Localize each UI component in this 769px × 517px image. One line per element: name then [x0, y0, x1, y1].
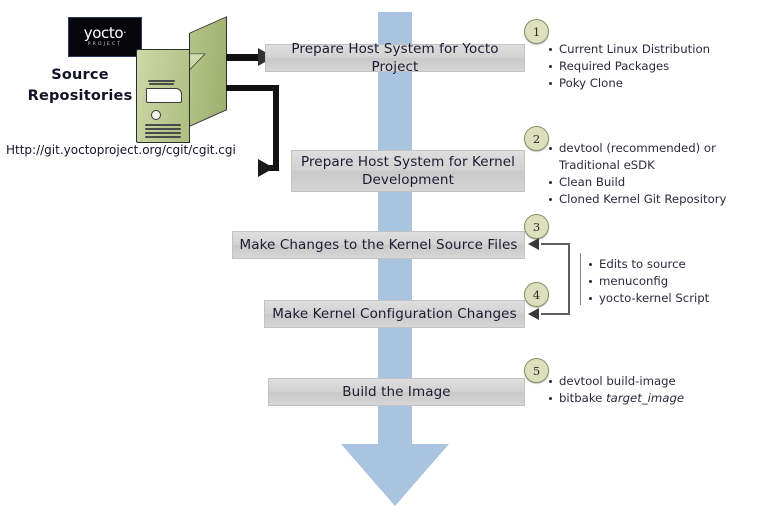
list-item: menuconfig	[588, 273, 709, 290]
step-5-badge: 5	[524, 358, 549, 383]
step-2-box[interactable]: Prepare Host System for Kernel Developme…	[291, 150, 525, 192]
list-item-emphasis: target_image	[606, 391, 684, 405]
feedback-bracket-bottom	[541, 313, 570, 315]
yocto-project-logo: yocto· PROJECT	[68, 17, 142, 57]
list-item: Edits to source	[588, 256, 709, 273]
source-repositories-label: Source Repositories	[22, 65, 138, 107]
list-item: Clean Build	[548, 174, 726, 191]
server-side-panel	[189, 16, 227, 127]
list-item: yocto-kernel Script	[588, 290, 709, 307]
server-vent-line	[145, 124, 181, 126]
step-2-notes: devtool (recommended) or Traditional eSD…	[548, 140, 726, 208]
feedback-arrow-to-step4	[528, 308, 539, 320]
server-vent-line	[145, 136, 181, 138]
step-4-badge: 4	[524, 282, 549, 307]
step-1-box[interactable]: Prepare Host System for Yocto Project	[265, 44, 525, 72]
server-power-button	[151, 110, 161, 120]
feedback-bracket-top	[541, 243, 570, 245]
server-vent-line	[148, 80, 175, 82]
list-item: Poky Clone	[548, 75, 710, 92]
diagram-canvas: yocto· PROJECT Source Repositories Http:…	[0, 0, 769, 517]
source-label-line2: Repositories	[22, 86, 138, 107]
list-item: Required Packages	[548, 58, 710, 75]
list-item: bitbake target_image	[548, 390, 684, 407]
logo-word-yocto: yocto	[84, 24, 123, 42]
list-item: Current Linux Distribution	[548, 41, 710, 58]
logo-dot: ·	[123, 26, 126, 39]
source-repository-url: Http://git.yoctoproject.org/cgit/cgit.cg…	[6, 143, 236, 157]
server-vent-line	[149, 83, 174, 85]
step-1-badge: 1	[524, 19, 549, 44]
feedback-bracket-vertical	[568, 243, 570, 314]
step-1-notes: Current Linux Distribution Required Pack…	[548, 41, 710, 92]
logo-word-project: PROJECT	[88, 43, 123, 48]
step-2-box-line2: Development	[362, 171, 454, 189]
server-vent-line	[145, 128, 181, 130]
list-item: Cloned Kernel Git Repository	[548, 191, 726, 208]
step-3-box[interactable]: Make Changes to the Kernel Source Files	[232, 231, 525, 259]
notes-divider	[580, 253, 581, 305]
feedback-arrow-to-step3	[528, 238, 539, 250]
server-icon	[136, 33, 228, 143]
step-3-badge: 3	[524, 214, 549, 239]
step-2-badge: 2	[524, 126, 549, 151]
steps-3-4-notes: Edits to source menuconfig yocto-kernel …	[588, 256, 709, 307]
server-vent-line	[145, 132, 181, 134]
server-drive-slot	[146, 88, 182, 103]
connector-server-to-step1-line	[226, 54, 262, 61]
source-label-line1: Source	[22, 65, 138, 86]
connector-server-to-step2-h1	[226, 85, 279, 91]
server-front-panel	[136, 49, 190, 143]
connector-server-to-step2-arrow	[258, 159, 274, 177]
list-item-continuation: Traditional eSDK	[548, 157, 726, 174]
step-2-box-line1: Prepare Host System for Kernel	[301, 153, 515, 171]
step-5-notes: devtool build-image bitbake target_image	[548, 373, 684, 407]
step-5-box[interactable]: Build the Image	[268, 378, 525, 406]
list-item-text: bitbake	[559, 391, 606, 405]
step-4-box[interactable]: Make Kernel Configuration Changes	[264, 300, 525, 328]
list-item: devtool (recommended) or	[548, 140, 726, 157]
main-flow-arrow-head	[341, 444, 449, 506]
list-item: devtool build-image	[548, 373, 684, 390]
